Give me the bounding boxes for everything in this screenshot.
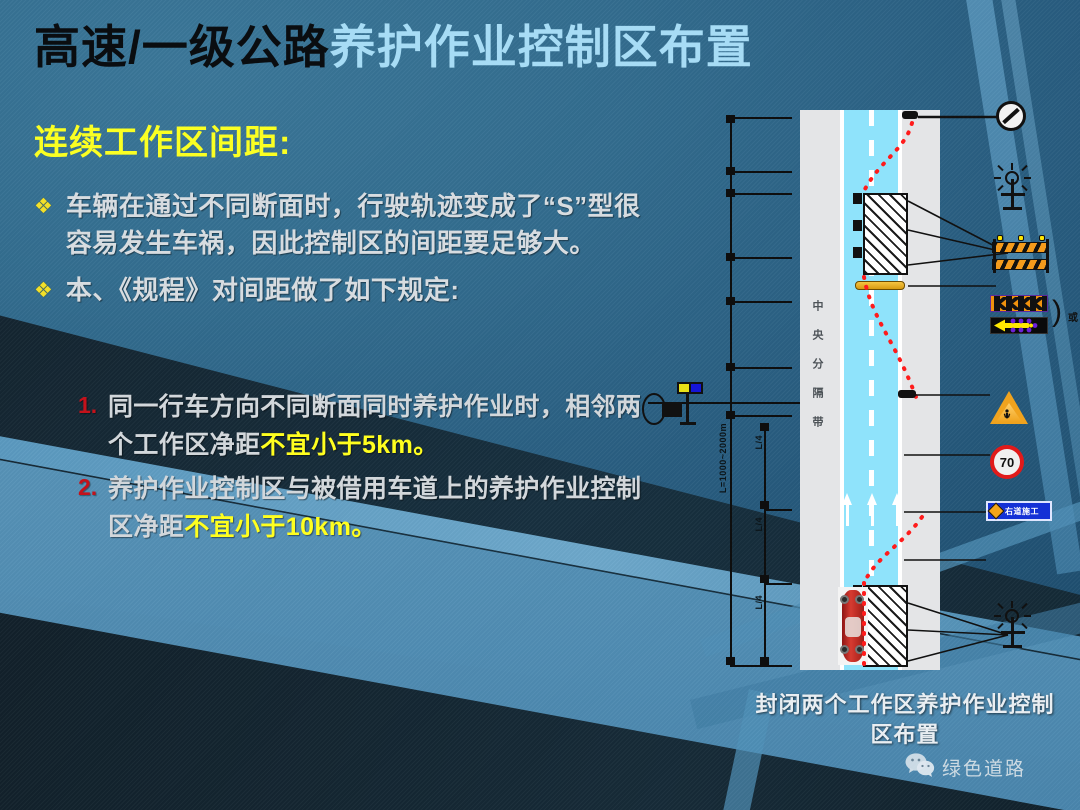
- roadwork-warning-triangle-icon: [990, 391, 1028, 424]
- diamond-bullet-icon: ❖: [34, 196, 53, 217]
- work-zone-upper: [863, 193, 908, 275]
- sign-chevron-board[interactable]: [990, 295, 1048, 312]
- list-item: ❖ 车辆在通过不同断面时，行驶轨迹变成了“S”型很容易发生车祸，因此控制区的间距…: [34, 188, 644, 262]
- striped-barrier-icon: [990, 235, 1052, 275]
- diagram-caption: 封闭两个工作区养护作业控制区布置: [745, 690, 1065, 749]
- sign-led-arrow-board[interactable]: [990, 317, 1048, 334]
- wechat-icon: [905, 752, 935, 783]
- sign-roadwork-warning[interactable]: [990, 391, 1028, 424]
- sign-no-entry[interactable]: [996, 101, 1026, 131]
- dimension-cap: [760, 575, 769, 583]
- dimension-cap: [726, 363, 735, 371]
- numbered-list-item: 1. 同一行车方向不同断面同时养护作业时，相邻两个工作区净距不宜小于5km。: [78, 388, 648, 464]
- work-zone-lower: [863, 585, 908, 667]
- bullet-list: ❖ 车辆在通过不同断面时，行驶轨迹变成了“S”型很容易发生车祸，因此控制区的间距…: [34, 188, 644, 319]
- section-subtitle: 连续工作区间距:: [34, 115, 291, 164]
- chevron-board-icon: [990, 295, 1048, 312]
- dimension-label-quarter: L/4: [754, 595, 764, 610]
- page-title-part-two: 养护作业控制区布置: [330, 21, 753, 73]
- dimension-tick: [730, 257, 792, 259]
- dimension-tick: [730, 193, 792, 195]
- dimension-main-axis: [730, 117, 732, 665]
- no-entry-icon: [996, 101, 1026, 131]
- car-wheel: [840, 595, 849, 604]
- work-zone-layout-diagram: L=1000~2000m L/4 L/4 L/4 中央分隔带: [690, 105, 1080, 685]
- watermark: 绿色道路: [905, 752, 1026, 783]
- dimension-sub-axis: [764, 425, 766, 665]
- median-label: 中央分隔带: [808, 300, 832, 445]
- list-item: ❖ 本、《规程》对间距做了如下规定:: [34, 272, 644, 309]
- dimension-cap: [726, 253, 735, 261]
- info-sign-text: 右道施工: [1005, 506, 1039, 517]
- dimension-cap: [726, 657, 735, 665]
- led-arrow-board-icon: [990, 317, 1048, 334]
- cone-column-upper: [853, 193, 862, 274]
- sign-striped-barrier[interactable]: [990, 235, 1052, 275]
- page-title: 高速/一级公路养护作业控制区布置: [34, 22, 753, 73]
- dimension-cap: [726, 189, 735, 197]
- numbered-item-highlight: 不宜小于5km。: [260, 431, 438, 459]
- speed-limit-icon: 70: [990, 445, 1024, 479]
- dimension-tick: [730, 415, 792, 417]
- list-number: 2.: [78, 474, 108, 501]
- dimension-tick: [730, 171, 792, 173]
- dimension-cap: [760, 657, 769, 665]
- sign-warning-beacon[interactable]: [990, 163, 1036, 211]
- page-title-part-one: 高速/一级公路: [34, 21, 330, 73]
- dimension-cap: [726, 297, 735, 305]
- brace-bracket: ): [1052, 297, 1062, 327]
- loudspeaker-icon: [642, 375, 720, 435]
- dimension-tick: [730, 117, 792, 119]
- lane-construction-info-icon: 右道施工: [986, 501, 1052, 521]
- numbered-item-text: 同一行车方向不同断面同时养护作业时，相邻两个工作区净距不宜小于5km。: [108, 388, 648, 464]
- car-windscreen: [845, 617, 861, 637]
- dimension-tick: [730, 665, 792, 667]
- numbered-list: 1. 同一行车方向不同断面同时养护作业时，相邻两个工作区净距不宜小于5km。 2…: [78, 388, 648, 552]
- dimension-label-quarter: L/4: [754, 517, 764, 532]
- dimension-cap: [760, 423, 769, 431]
- vehicle-icon: [838, 587, 868, 665]
- direction-arrows: [842, 493, 902, 529]
- car-wheel: [840, 645, 849, 654]
- diamond-warning-icon: [988, 503, 1005, 520]
- car-wheel: [855, 595, 864, 604]
- dimension-cap: [726, 167, 735, 175]
- dimension-tick: [730, 367, 792, 369]
- dimension-cap: [726, 411, 735, 419]
- work-vehicle-upper: [855, 281, 905, 290]
- dimension-tick: [764, 583, 792, 585]
- sign-warning-beacon-lower[interactable]: [990, 601, 1036, 649]
- bullet-text: 本、《规程》对间距做了如下规定:: [66, 272, 460, 309]
- numbered-list-item: 2. 养护作业控制区与被借用车道上的养护作业控制区净距不宜小于10km。: [78, 470, 648, 546]
- watermark-text: 绿色道路: [942, 754, 1026, 781]
- sign-lane-construction-info[interactable]: 右道施工: [986, 501, 1052, 521]
- diamond-bullet-icon: ❖: [34, 280, 53, 301]
- numbered-item-text: 养护作业控制区与被借用车道上的养护作业控制区净距不宜小于10km。: [108, 470, 648, 546]
- dimension-cap: [760, 501, 769, 509]
- sign-speed-limit[interactable]: 70: [990, 445, 1024, 479]
- dimension-label-quarter: L/4: [754, 435, 764, 450]
- numbered-item-highlight: 不宜小于10km。: [184, 513, 377, 541]
- warning-beacon-icon: [990, 601, 1036, 649]
- brace-note: 或: [1068, 309, 1078, 324]
- dimension-tick: [764, 509, 792, 511]
- warning-beacon-icon: [990, 163, 1036, 211]
- dimension-tick: [730, 301, 792, 303]
- car-wheel: [855, 645, 864, 654]
- bullet-text: 车辆在通过不同断面时，行驶轨迹变成了“S”型很容易发生车祸，因此控制区的间距要足…: [66, 188, 644, 262]
- list-number: 1.: [78, 392, 108, 419]
- left-edge-line: [840, 110, 844, 670]
